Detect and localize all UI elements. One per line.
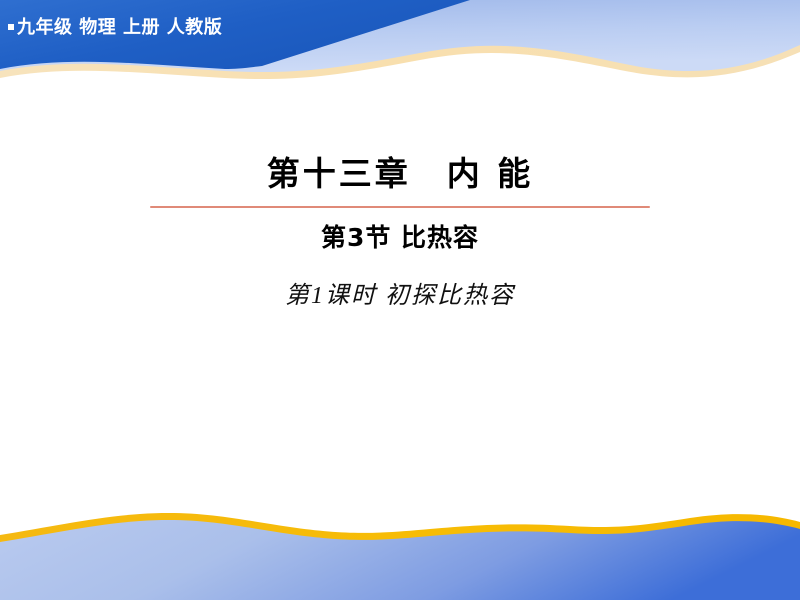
section-title: 第3节 比热容 [0,220,800,256]
slide-body: 第十三章 内 能 第3节 比热容 第1课时 初探比热容 [0,150,800,314]
header-subject-text: 九年级 物理 上册 人教版 [17,17,222,38]
square-bullet-icon [8,24,14,30]
slide-canvas: 九年级 物理 上册 人教版 第十三章 内 能 第3节 比热容 第1课时 初探比热… [0,0,800,600]
header-subject-label: 九年级 物理 上册 人教版 [8,13,222,39]
page-title: 第十三章 内 能 [0,150,800,198]
title-divider [150,206,650,208]
bottom-decoration [0,505,800,600]
top-wave-cream-edge [0,0,800,79]
lesson-title: 第1课时 初探比热容 [0,278,800,314]
bottom-wave-blue [0,520,800,600]
bottom-wave-gold-edge [0,513,800,600]
